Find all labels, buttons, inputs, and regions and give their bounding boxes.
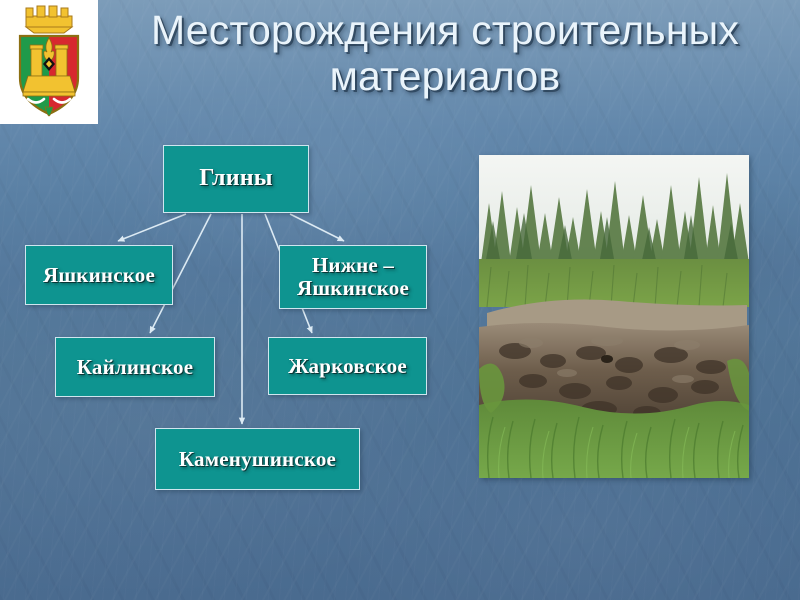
title-line-1: Месторождения строительных [100,8,790,54]
emblem-plate [0,0,98,124]
node-label: Глины [193,166,278,192]
diagram-node-zharkovskoe[interactable]: Жарковское [268,337,427,395]
quarry-photo [479,155,749,478]
diagram-node-kailinskoe[interactable]: Кайлинское [55,337,215,397]
node-label: Нижне – Яшкинское [291,254,415,299]
diagram-node-yashkinskoe[interactable]: Яшкинское [25,245,173,305]
slide-title: Месторождения строительных материалов [100,8,790,100]
diagram-node-nizhne-yashkinskoe[interactable]: Нижне – Яшкинское [279,245,427,309]
title-line-2: материалов [100,54,790,100]
diagram-node-kamenushinskoe[interactable]: Каменушинское [155,428,360,490]
node-label: Жарковское [282,355,413,378]
node-label: Яшкинское [37,264,161,287]
node-label: Каменушинское [173,448,342,471]
coat-of-arms-icon [4,2,94,120]
quarry-photo-image [479,155,749,478]
diagram-node-root[interactable]: Глины [163,145,309,213]
node-label: Кайлинское [71,356,200,379]
slide-canvas: Месторождения строительных материалов Гл… [0,0,800,600]
